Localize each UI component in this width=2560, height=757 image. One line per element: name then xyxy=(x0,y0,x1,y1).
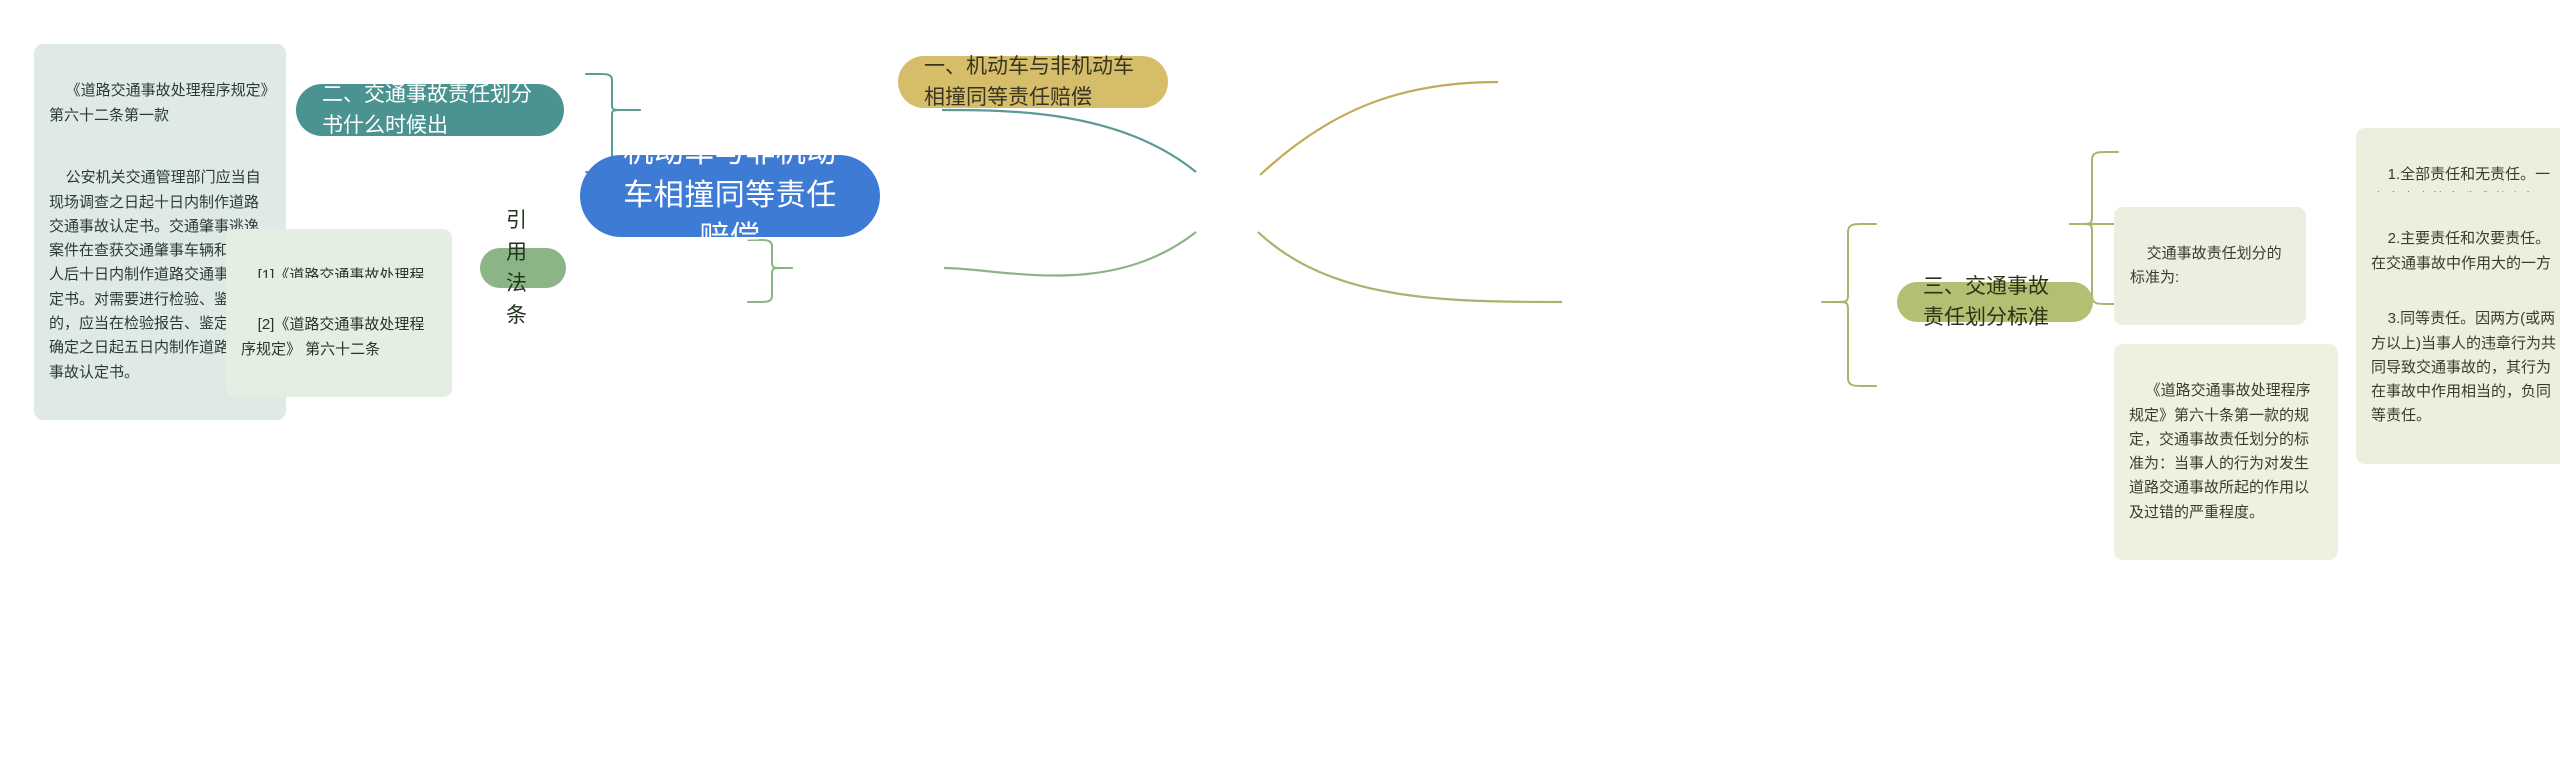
branch-three-intermediate[interactable]: 交通事故责任划分的标准为: xyxy=(2114,207,2306,325)
branch-node-citations[interactable]: 引用法条 xyxy=(480,248,566,288)
branch-three-note-label: 《道路交通事故处理程序规定》第六十条第一款的规定，交通事故责任划分的标准为：当事… xyxy=(2129,382,2311,520)
branch-three-card-3-label: 3.同等责任。因两方(或两方以上)当事人的违章行为共同导致交通事故的，其行为在事… xyxy=(2371,310,2556,424)
edge-root-to-citations xyxy=(944,232,1196,276)
edge-root-to-branch-two xyxy=(942,110,1196,172)
branch-node-two[interactable]: 二、交通事故责任划分书什么时候出 xyxy=(296,84,564,136)
edge-branch-three-to-intermediate xyxy=(1822,224,1876,302)
edge-branch-three-to-note xyxy=(1822,302,1876,386)
branch-three-intermediate-label: 交通事故责任划分的标准为: xyxy=(2130,245,2282,286)
branch-three-note[interactable]: 《道路交通事故处理程序规定》第六十条第一款的规定，交通事故责任划分的标准为：当事… xyxy=(2114,344,2338,560)
root-node-label: 机动车与非机动车相撞同等责任赔偿 xyxy=(614,132,846,260)
edge-root-to-branch-three xyxy=(1258,232,1562,302)
branch-node-three[interactable]: 三、交通事故责任划分标准 xyxy=(1897,282,2093,322)
citations-label: 引用法条 xyxy=(506,205,540,331)
mindmap-canvas: 机动车与非机动车相撞同等责任赔偿 一、机动车与非机动车相撞同等责任赔偿 二、交通… xyxy=(0,0,2560,757)
branch-three-label: 三、交通事故责任划分标准 xyxy=(1923,271,2067,334)
branch-three-card-3[interactable]: 3.同等责任。因两方(或两方以上)当事人的违章行为共同导致交通事故的，其行为在事… xyxy=(2356,272,2560,464)
edge-citations-leaf-2 xyxy=(748,268,792,302)
branch-two-leaf-1-label: 《道路交通事故处理程序规定》第六十二条第一款 xyxy=(49,82,268,123)
branch-two-label: 二、交通事故责任划分书什么时候出 xyxy=(322,79,538,142)
branch-one-label: 一、机动车与非机动车相撞同等责任赔偿 xyxy=(924,51,1142,114)
root-node[interactable]: 机动车与非机动车相撞同等责任赔偿 xyxy=(580,155,880,237)
edge-branch-two-leaf-1 xyxy=(586,74,640,110)
citations-leaf-2-label: [2]《道路交通事故处理程序规定》 第六十二条 xyxy=(241,316,424,357)
edge-root-to-branch-one xyxy=(1260,82,1498,175)
citations-leaf-2[interactable]: [2]《道路交通事故处理程序规定》 第六十二条 xyxy=(226,278,452,397)
edge-intermediate-card-1 xyxy=(2070,152,2118,224)
branch-node-one[interactable]: 一、机动车与非机动车相撞同等责任赔偿 xyxy=(898,56,1168,108)
